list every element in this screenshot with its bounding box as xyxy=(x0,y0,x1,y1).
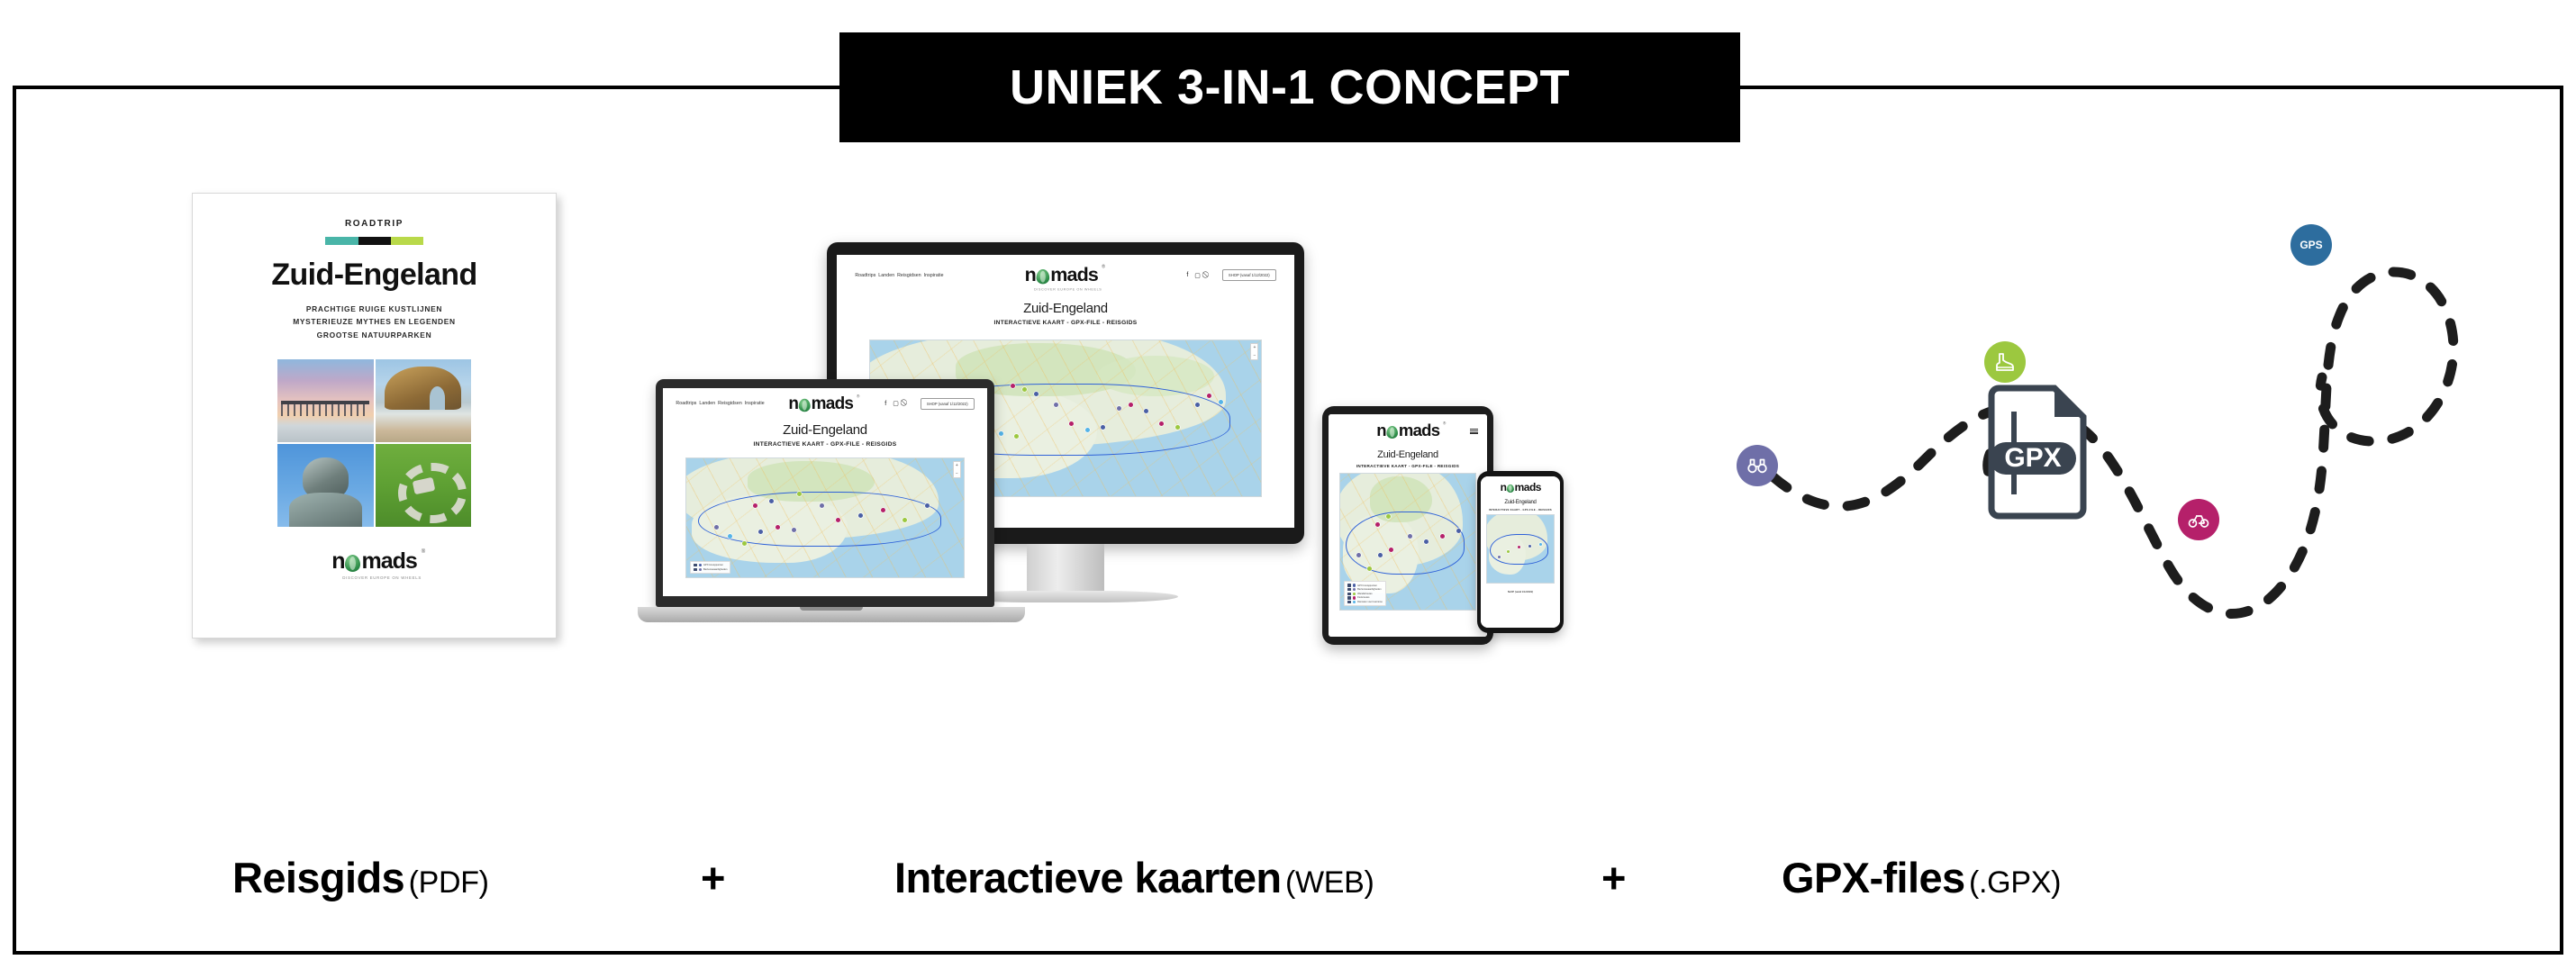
cycling-pin xyxy=(2178,499,2219,540)
site-brand-part2: mads xyxy=(812,395,854,412)
legend-checkbox[interactable] xyxy=(1347,601,1350,603)
plus-separator-1: + xyxy=(701,853,725,902)
site-brand[interactable]: n mads ® xyxy=(757,393,884,415)
site-page-title: Zuid-Engeland xyxy=(837,301,1294,316)
device-mockups: Roadtrips Landen Reisgidsen Inspiratie n xyxy=(638,242,1556,819)
laptop-base-deck xyxy=(638,607,1025,622)
zoom-out-icon[interactable]: − xyxy=(956,471,958,476)
site-page-subtitle: INTERACTIEVE KAART - GPX-FILE - REISGIDS xyxy=(663,441,987,448)
site-page-subtitle: INTERACTIEVE KAART - GPX-FILE - REISGIDS xyxy=(837,320,1294,326)
legend-checkbox[interactable] xyxy=(694,564,696,566)
stonehenge-aerial-photo xyxy=(376,444,472,527)
interactive-map[interactable]: GPX knooppunten Bezienswaardigheden xyxy=(1339,473,1475,611)
caption-gpx-files: GPX-files (.GPX) xyxy=(1782,853,2061,902)
book-subtitle: PRACHTIGE RUIGE KUSTLIJNEN MYSTERIEUZE M… xyxy=(229,303,520,341)
legend-item[interactable]: Fietsroutes xyxy=(1347,596,1383,599)
legend-label: Bezienswaardigheden xyxy=(703,568,727,571)
nav-item-reisgidsen[interactable]: Reisgidsen xyxy=(897,273,921,278)
globe-icon xyxy=(799,399,811,412)
site-page-title: Zuid-Engeland xyxy=(663,422,987,438)
legend-checkbox[interactable] xyxy=(694,568,696,571)
site-navbar: n mads xyxy=(1481,476,1560,499)
map-legend[interactable]: GPX knooppunten Bezienswaardigheden xyxy=(690,561,730,574)
site-nav-menu[interactable]: Roadtrips Landen Reisgidsen Inspiratie xyxy=(676,401,757,406)
globe-icon xyxy=(345,555,360,572)
site-nav-menu[interactable]: Roadtrips Landen Reisgidsen Inspiratie xyxy=(855,273,936,278)
gpx-file-icon: GPX xyxy=(1984,386,2091,520)
caption-2-main: Interactieve kaarten xyxy=(894,854,1282,901)
tablet-screen: n mads ® xyxy=(1329,414,1487,637)
products-row: ROADTRIP Zuid-Engeland PRACHTIGE RUIGE K… xyxy=(16,89,2567,801)
nav-item-roadtrips[interactable]: Roadtrips xyxy=(676,401,696,406)
sightseeing-pin xyxy=(1737,445,1778,486)
legend-checkbox[interactable] xyxy=(1347,596,1350,599)
instagram-icon[interactable]: ▢ xyxy=(1194,272,1201,279)
zoom-in-icon[interactable]: + xyxy=(1253,345,1256,350)
caption-3-main: GPX-files xyxy=(1782,854,1965,901)
content-frame: ROADTRIP Zuid-Engeland PRACHTIGE RUIGE K… xyxy=(13,86,2563,955)
tablet-mockup: n mads ® xyxy=(1322,406,1493,645)
hamburger-menu-icon[interactable] xyxy=(1470,429,1478,434)
site-brand[interactable]: n mads ® xyxy=(1335,420,1481,442)
legend-label: Bezienswaardigheden xyxy=(1357,588,1381,591)
site-navbar: Roadtrips Landen Reisgidsen Inspiratie n xyxy=(837,255,1294,295)
shop-button[interactable]: SHOP (vanaf 1/12/2022) xyxy=(1222,269,1276,281)
header-badge-text: UNIEK 3-IN-1 CONCEPT xyxy=(1010,59,1570,115)
site-brand-part2: mads xyxy=(1514,483,1540,494)
trademark-icon: ® xyxy=(1443,422,1446,426)
legend-item[interactable]: GPX knooppunten xyxy=(1347,584,1383,586)
promo-banner: ROADTRIP Zuid-Engeland PRACHTIGE RUIGE K… xyxy=(0,0,2576,978)
nav-item-roadtrips[interactable]: Roadtrips xyxy=(855,273,875,278)
plus-separator-2: + xyxy=(1601,853,1626,902)
binoculars-icon xyxy=(1746,455,1768,476)
book-subtitle-line-3: GROOTSE NATUURPARKEN xyxy=(229,329,520,341)
header-badge: UNIEK 3-IN-1 CONCEPT xyxy=(839,32,1740,142)
book-title: Zuid-Engeland xyxy=(229,259,520,290)
legend-label: Wandelroutes xyxy=(1357,593,1373,595)
zoom-out-icon[interactable]: − xyxy=(1253,353,1256,358)
site-navbar: Roadtrips Landen Reisgidsen Inspiratie n xyxy=(663,388,987,420)
globe-icon xyxy=(1037,269,1050,284)
gps-pin-label: GPS xyxy=(2299,239,2322,251)
hiking-boot-icon xyxy=(1994,351,2016,373)
laptop-mockup: Roadtrips Landen Reisgidsen Inspiratie n xyxy=(638,379,1025,649)
gps-pin: GPS xyxy=(2290,224,2332,266)
site-page-subtitle: INTERACTIEVE KAART - GPX-FILE - REISGIDS xyxy=(1481,509,1560,512)
globe-icon xyxy=(1386,426,1398,439)
monitor-stand-neck xyxy=(1027,544,1104,591)
site-social-links[interactable]: f ▢ ⃠ SHOP (vanaf 1/12/2022) xyxy=(1186,269,1275,281)
caption-travel-guide: Reisgids (PDF) xyxy=(232,853,489,902)
gpx-route-illustration: GPX GPS xyxy=(1628,206,2511,765)
caption-3-paren: (.GPX) xyxy=(1969,865,2061,900)
book-photo-grid xyxy=(277,359,471,527)
site-brand-part1: n xyxy=(1500,483,1506,494)
laptop-screen: Roadtrips Landen Reisgidsen Inspiratie n xyxy=(663,388,987,596)
legend-item[interactable]: GPX knooppunten xyxy=(694,564,727,566)
bicycle-icon xyxy=(2188,509,2209,530)
trademark-icon: ® xyxy=(1102,265,1104,269)
facebook-icon[interactable]: f xyxy=(884,401,886,407)
interactive-map[interactable] xyxy=(1486,514,1555,584)
shop-button[interactable]: SHOP (vanaf 1/12/2022) xyxy=(1492,591,1548,593)
legend-label: Diensten voor toerisme xyxy=(1357,601,1383,603)
instagram-icon[interactable]: ▢ xyxy=(893,400,899,407)
website-page-tablet: n mads ® xyxy=(1329,414,1487,637)
book-kicker: ROADTRIP xyxy=(229,219,520,229)
trademark-icon: ® xyxy=(857,394,859,399)
gpx-file-label: GPX xyxy=(2004,443,2061,473)
website-page-laptop: Roadtrips Landen Reisgidsen Inspiratie n xyxy=(663,388,987,596)
phone-screen: n mads Zuid-Engeland INTERACTIEVE KAART … xyxy=(1481,476,1560,628)
facebook-icon[interactable]: f xyxy=(1186,272,1188,278)
phone-mockup: n mads Zuid-Engeland INTERACTIEVE KAART … xyxy=(1477,471,1564,633)
map-zoom-controls[interactable]: + − xyxy=(953,461,961,478)
legend-dot-icon xyxy=(699,568,702,571)
legend-item[interactable]: Bezienswaardigheden xyxy=(1347,588,1383,591)
site-brand-part2: mads xyxy=(1399,422,1439,439)
site-brand[interactable]: n mads ® DISCOVER EUROPE ON WHEELS xyxy=(936,264,1186,286)
brand-logo-part1: n xyxy=(331,550,344,573)
globe-icon xyxy=(1507,484,1514,493)
map-pins[interactable] xyxy=(686,458,964,577)
phone-bezel: n mads Zuid-Engeland INTERACTIEVE KAART … xyxy=(1477,471,1564,633)
site-brand-part1: n xyxy=(1376,422,1386,439)
nav-item-landen[interactable]: Landen xyxy=(878,273,894,278)
caption-1-main: Reisgids xyxy=(232,854,404,901)
brighton-pier-sunset-photo xyxy=(277,359,374,442)
site-brand-tagline: DISCOVER EUROPE ON WHEELS xyxy=(1034,288,1102,292)
legend-label: Fietsroutes xyxy=(1357,596,1369,599)
book-color-rule xyxy=(325,237,424,245)
legend-label: GPX knooppunten xyxy=(1357,584,1377,587)
site-brand-part2: mads xyxy=(1050,266,1098,285)
legend-dot-icon xyxy=(1353,601,1356,603)
hiking-pin xyxy=(1984,341,2026,383)
zoom-in-icon[interactable]: + xyxy=(956,463,958,468)
brand-tagline: DISCOVER EUROPE ON WHEELS xyxy=(342,576,422,580)
nav-item-reisgidsen[interactable]: Reisgidsen xyxy=(718,401,742,406)
captions-row: Reisgids (PDF) + Interactieve kaarten (W… xyxy=(16,837,2567,945)
map-legend[interactable]: GPX knooppunten Bezienswaardigheden xyxy=(1344,581,1386,606)
legend-dot-icon xyxy=(1353,588,1356,591)
legend-dot-icon xyxy=(699,564,702,566)
book-subtitle-line-2: MYSTERIEUZE MYTHES EN LEGENDEN xyxy=(229,315,520,328)
legend-dot-icon xyxy=(1353,596,1356,599)
caption-interactive-maps: Interactieve kaarten (WEB) xyxy=(894,853,1374,902)
website-page-phone: n mads Zuid-Engeland INTERACTIEVE KAART … xyxy=(1481,476,1560,628)
site-page-subtitle: INTERACTIEVE KAART - GPX-FILE - REISGIDS xyxy=(1329,464,1487,468)
legend-checkbox[interactable] xyxy=(1347,593,1350,595)
legend-item[interactable]: Diensten voor toerisme xyxy=(1347,601,1383,603)
nav-item-landen[interactable]: Landen xyxy=(699,401,715,406)
stone-statue-photo xyxy=(277,444,374,527)
shop-button[interactable]: SHOP (vanaf 1/12/2022) xyxy=(921,398,975,410)
map-pins[interactable] xyxy=(1487,515,1554,583)
book-subtitle-line-1: PRACHTIGE RUIGE KUSTLIJNEN xyxy=(229,303,520,315)
legend-dot-icon xyxy=(1353,584,1356,586)
interactive-map[interactable]: + − GPX knooppunten xyxy=(685,457,965,578)
caption-2-paren: (WEB) xyxy=(1285,865,1374,900)
site-page-title: Zuid-Engeland xyxy=(1329,449,1487,460)
durdle-door-arch-photo xyxy=(376,359,472,442)
brand-logo-part2: mads xyxy=(361,550,416,573)
site-page-title: Zuid-Engeland xyxy=(1481,500,1560,505)
tablet-bezel: n mads ® xyxy=(1322,406,1493,645)
book-brand-logo: n mads ® DISCOVER EUROPE ON WHEELS xyxy=(229,550,520,573)
legend-label: GPX knooppunten xyxy=(703,564,723,566)
laptop-lid: Roadtrips Landen Reisgidsen Inspiratie n xyxy=(656,379,994,607)
site-social-links[interactable]: f ▢ ⃠ SHOP (vanaf 1/12/2022) xyxy=(884,398,974,410)
legend-checkbox[interactable] xyxy=(1347,584,1350,586)
caption-1-paren: (PDF) xyxy=(409,865,489,900)
site-brand-part1: n xyxy=(1025,266,1036,285)
site-brand-part1: n xyxy=(788,395,798,412)
map-zoom-controls[interactable]: + − xyxy=(1250,343,1258,360)
site-navbar: n mads ® xyxy=(1329,414,1487,448)
legend-checkbox[interactable] xyxy=(1347,588,1350,591)
travel-guide-book-cover: ROADTRIP Zuid-Engeland PRACHTIGE RUIGE K… xyxy=(192,193,557,638)
gpx-document-shape: GPX xyxy=(1984,386,2091,520)
site-brand[interactable]: n mads xyxy=(1481,476,1560,499)
legend-item[interactable]: Wandelroutes xyxy=(1347,593,1383,595)
legend-item[interactable]: Bezienswaardigheden xyxy=(694,568,727,571)
trademark-icon: ® xyxy=(422,549,425,555)
legend-dot-icon xyxy=(1353,593,1356,595)
